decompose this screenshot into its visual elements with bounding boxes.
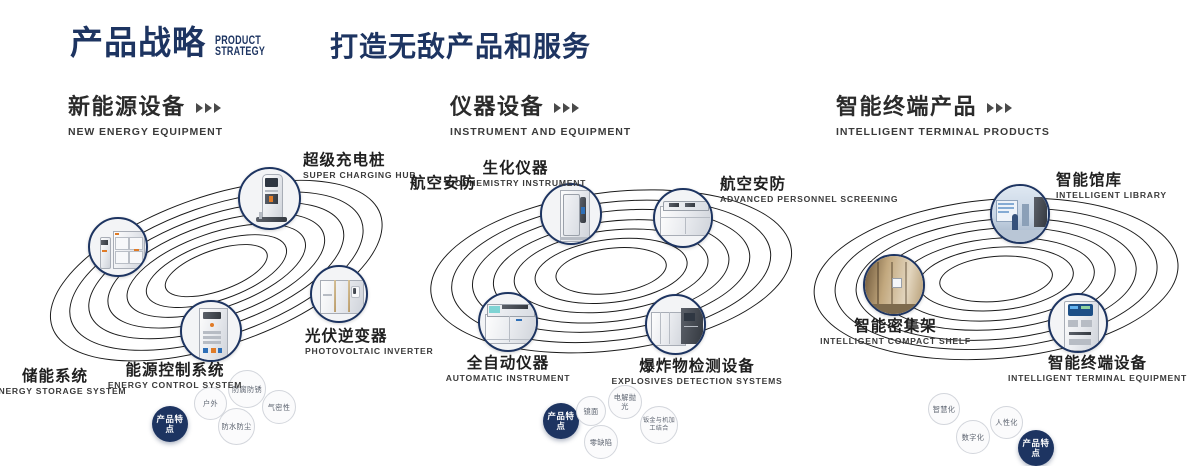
screening-machine-icon [655, 190, 711, 246]
node-label-terminal-equipment: 智能终端设备 INTELLIGENT TERMINAL EQUIPMENT [995, 355, 1200, 384]
page-title: 产品战略 [70, 26, 206, 59]
section-title-instrument: 仪器设备 INSTRUMENT AND EQUIPMENT [450, 97, 631, 138]
pv-inverter-cabinet-icon [312, 267, 366, 321]
node-personnel-screening[interactable] [653, 188, 713, 248]
feature-bubble: 电解抛光 [608, 385, 642, 419]
page-title-en: PRODUCT STRATEGY [215, 36, 265, 58]
feature-bubble: 防水防尘 [218, 408, 255, 445]
cluster-instrument: 产品特点 镜面 电解抛光 零缺陷 钣金与机加工结合 生化仪器 BIOCHEMI [400, 150, 820, 400]
page-title-en-line2: STRATEGY [215, 47, 265, 58]
section-title-en: INTELLIGENT TERMINAL PRODUCTS [836, 126, 1050, 138]
self-service-kiosk-icon [1050, 295, 1106, 351]
control-cabinet-icon [182, 302, 240, 360]
explosives-detector-icon [647, 296, 704, 353]
section-title-intelligent-terminal: 智能终端产品 INTELLIGENT TERMINAL PRODUCTS [836, 97, 1050, 138]
node-explosives-detection[interactable] [645, 294, 706, 355]
node-label-compact-shelf: 智能密集架 INTELLIGENT COMPACT SHELF [818, 318, 973, 347]
node-label-aviation-security: 航空安防 [410, 175, 476, 191]
core-badge-instrument: 产品特点 [543, 403, 579, 439]
energy-storage-cabinet-icon [90, 219, 146, 275]
cluster-new-energy: 产品特点 户外 防腐防锈 防水防尘 气密性 [0, 150, 420, 400]
feature-bubble: 数字化 [956, 420, 990, 454]
poster-canvas: 产品战略 PRODUCT STRATEGY 打造无敌产品和服务 新能源设备 NE… [0, 0, 1200, 422]
feature-bubble: 气密性 [262, 390, 296, 424]
core-badge-intelligent-terminal: 产品特点 [1018, 430, 1054, 466]
chevron-right-icon [196, 103, 221, 113]
cluster-intelligent-terminal: 智慧化 数字化 人性化 产品特点 智能馆库 INTELL [790, 150, 1200, 400]
poster-header: 产品战略 PRODUCT STRATEGY [70, 26, 279, 59]
section-title-en: INSTRUMENT AND EQUIPMENT [450, 126, 631, 138]
node-automatic-instrument[interactable] [478, 292, 538, 352]
slogan: 打造无敌产品和服务 [330, 33, 591, 61]
chevron-right-icon [554, 103, 579, 113]
section-title-cn: 智能终端产品 [836, 97, 977, 119]
core-badge-new-energy: 产品特点 [152, 406, 188, 442]
node-terminal-equipment[interactable] [1048, 293, 1108, 353]
section-title-cn: 新能源设备 [68, 97, 186, 119]
automatic-analyzer-icon [480, 294, 536, 350]
library-room-icon [992, 186, 1048, 242]
node-super-charging-hub[interactable] [238, 167, 301, 230]
section-title-en: NEW ENERGY EQUIPMENT [68, 126, 223, 138]
node-label-explosives-detection: 爆炸物检测设备 EXPLOSIVES DETECTION SYSTEMS [592, 358, 802, 387]
feature-bubble: 零缺陷 [584, 425, 618, 459]
node-label-intelligent-library: 智能馆库 INTELLIGENT LIBRARY [1056, 172, 1167, 201]
node-label-automatic-instrument: 全自动仪器 AUTOMATIC INSTRUMENT [420, 355, 596, 384]
biochemistry-scanner-icon [542, 185, 600, 243]
node-energy-storage[interactable] [88, 217, 148, 277]
charging-pile-icon [240, 169, 299, 228]
node-label-energy-control: 能源控制系统 ENERGY CONTROL SYSTEM [75, 362, 275, 391]
section-title-cn: 仪器设备 [450, 97, 544, 119]
feature-bubble: 智慧化 [928, 393, 960, 425]
node-biochemistry-instrument[interactable] [540, 183, 602, 245]
compact-shelving-icon [865, 256, 923, 314]
node-pv-inverter[interactable] [310, 265, 368, 323]
section-title-new-energy: 新能源设备 NEW ENERGY EQUIPMENT [68, 97, 223, 138]
feature-bubble: 人性化 [990, 406, 1023, 439]
chevron-right-icon [987, 103, 1012, 113]
feature-bubble: 钣金与机加工结合 [640, 406, 678, 444]
node-compact-shelf[interactable] [863, 254, 925, 316]
node-intelligent-library[interactable] [990, 184, 1050, 244]
node-energy-control[interactable] [180, 300, 242, 362]
